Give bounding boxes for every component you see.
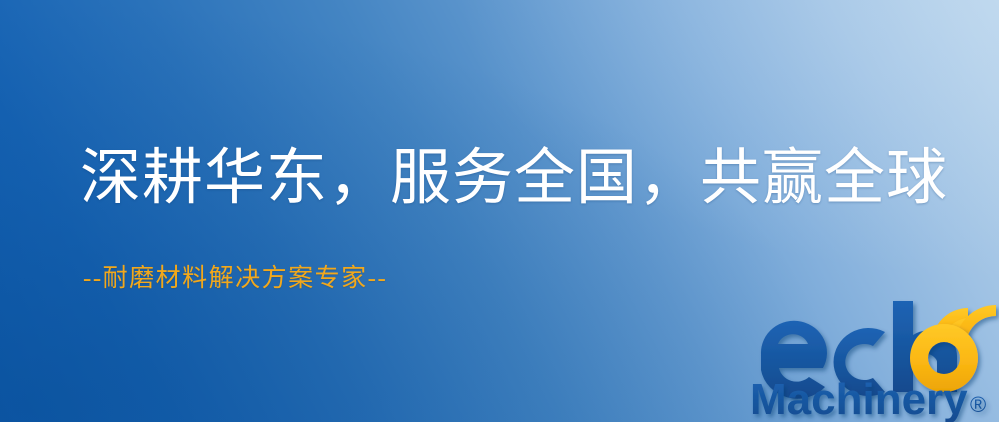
machinery-wordmark: Machinery ®: [750, 375, 986, 422]
registered-trademark-symbol: ®: [970, 392, 986, 417]
machinery-text: Machinery: [750, 375, 968, 422]
echo-machinery-logo[interactable]: Machinery ®: [748, 296, 999, 422]
banner-subtitle: --耐磨材料解决方案专家--: [83, 266, 387, 291]
banner-headline: 深耕华东，服务全国，共赢全球: [80, 148, 948, 209]
hero-banner: 深耕华东，服务全国，共赢全球 --耐磨材料解决方案专家--: [0, 0, 999, 422]
logo-artwork: Machinery ®: [748, 296, 999, 422]
